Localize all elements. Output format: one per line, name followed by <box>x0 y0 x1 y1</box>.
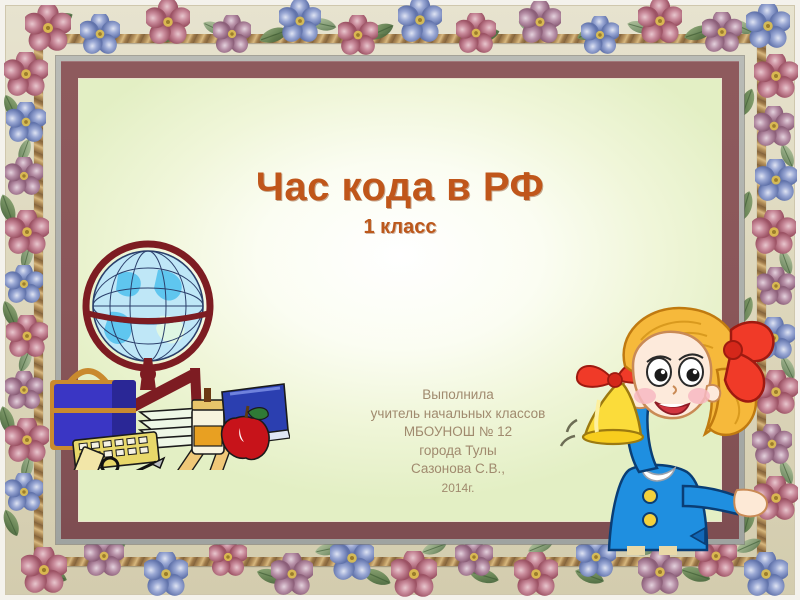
author-line-4: города Тулы <box>333 442 583 461</box>
page-title: Час кода в РФ <box>78 166 722 208</box>
page-subtitle: 1 класс <box>78 216 722 239</box>
braid-rope-bottom <box>39 557 761 566</box>
author-line-5: Сазонова С.В., <box>333 460 583 479</box>
author-block: Выполнила учитель начальных классов МБОУ… <box>333 386 583 497</box>
school-supplies-icon <box>40 240 290 470</box>
author-line-1: Выполнила <box>333 386 583 405</box>
presentation-slide: Час кода в РФ 1 класс Выполнила учитель … <box>0 0 800 600</box>
title-block: Час кода в РФ 1 класс <box>78 166 722 239</box>
hair-bow-icon <box>724 322 773 401</box>
author-line-6: 2014г. <box>333 479 583 498</box>
braid-rope-top <box>39 34 761 43</box>
author-line-3: МБОУНОШ № 12 <box>333 423 583 442</box>
author-line-2: учитель начальных классов <box>333 405 583 424</box>
girl-with-bell-icon <box>555 300 785 555</box>
